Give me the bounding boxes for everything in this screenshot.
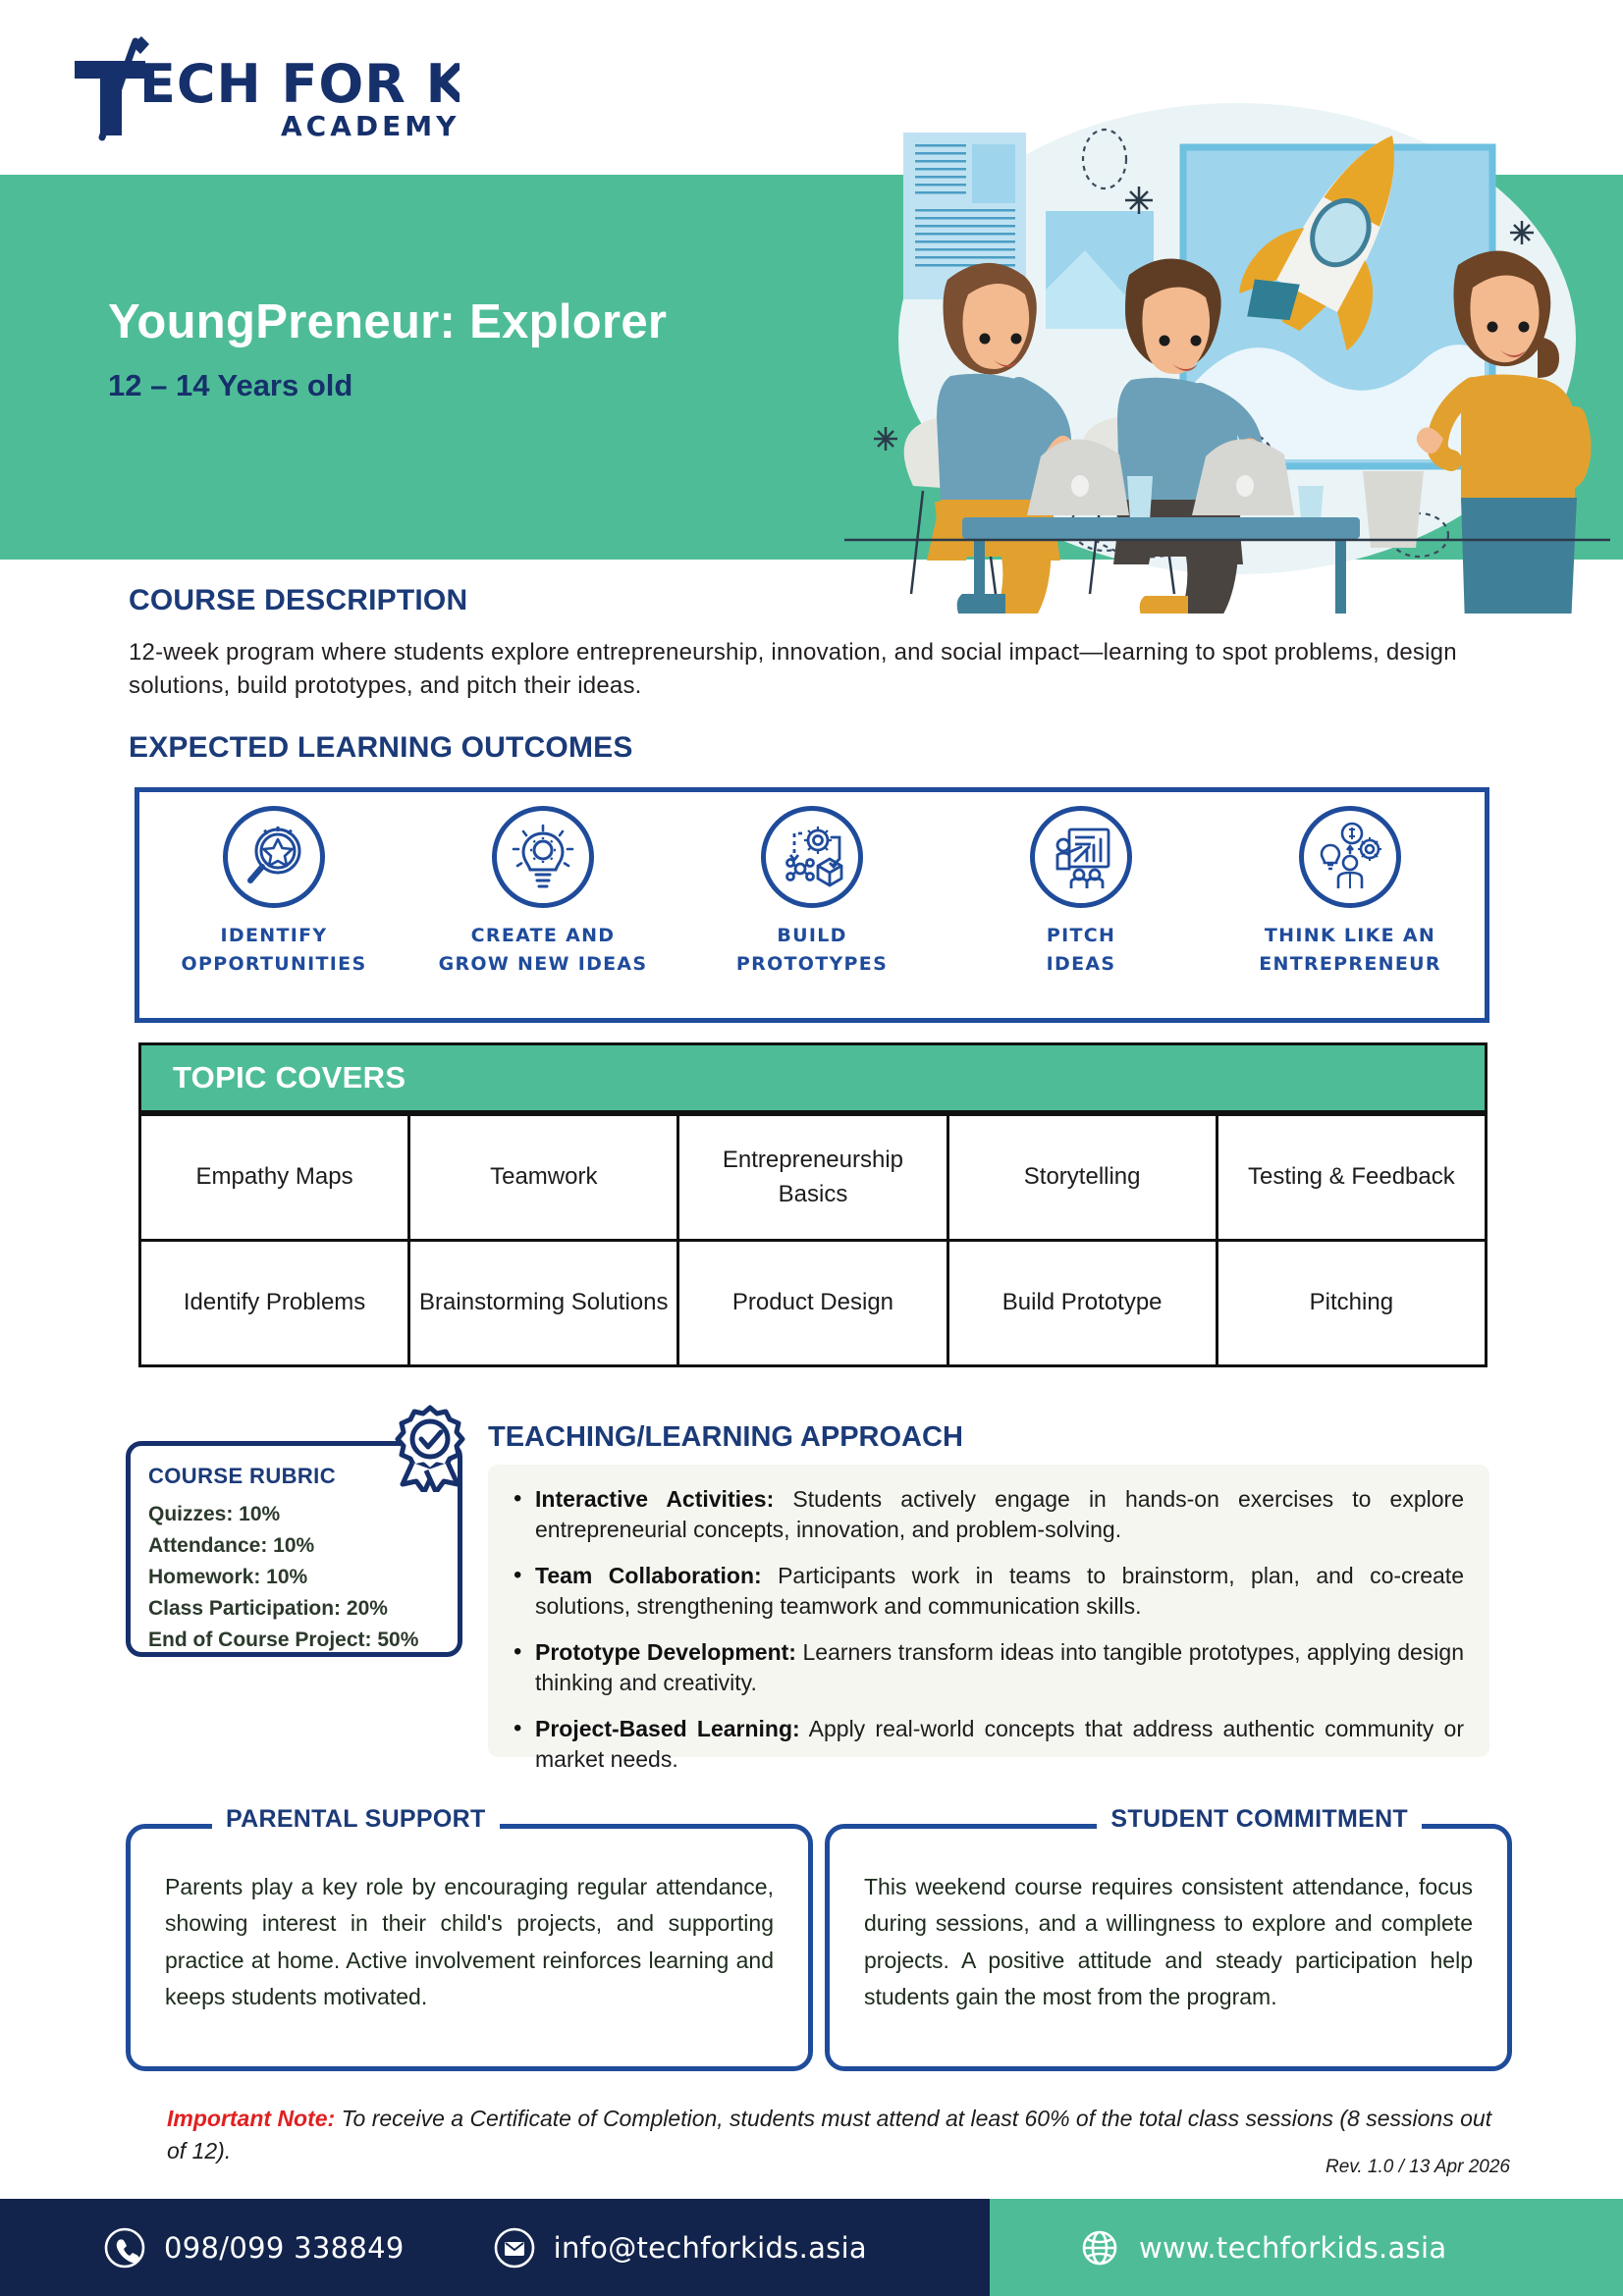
outcome-label: BUILDPROTOTYPES [736,922,888,980]
table-cell: Product Design [678,1241,947,1366]
table-cell: Build Prototype [947,1241,1217,1366]
outcome-build-prototypes: BUILDPROTOTYPES [677,806,947,980]
list-item: End of Course Project: 50% [148,1625,453,1656]
parental-support-panel: PARENTAL SUPPORT Parents play a key role… [126,1824,813,2071]
bullet-icon: • [514,1561,535,1622]
list-item: • Team Collaboration: Participants work … [514,1561,1464,1622]
course-rubric-list: Quizzes: 10% Attendance: 10% Homework: 1… [148,1499,453,1656]
topic-covers-section: TOPIC COVERS Empathy Maps Teamwork Entre… [138,1042,1488,1367]
table-cell: Pitching [1217,1241,1486,1366]
course-description-text: 12-week program where students explore e… [129,636,1484,703]
magnifier-star-icon [223,806,325,908]
globe-icon [1078,2226,1121,2269]
lightbulb-gear-icon [492,806,594,908]
term: Team Collaboration: [535,1563,762,1588]
table-cell: Storytelling [947,1115,1217,1241]
age-range-subtitle: 12 – 14 Years old [108,368,352,403]
important-note-text: To receive a Certificate of Completion, … [167,2106,1491,2163]
list-item: Homework: 10% [148,1562,453,1593]
footer-phone-text: 098/099 338849 [164,2231,405,2265]
table-cell: Brainstorming Solutions [409,1241,678,1366]
footer-website-text: www.techforkids.asia [1139,2231,1446,2265]
outcome-identify-opportunities: IDENTIFYOPPORTUNITIES [139,806,408,980]
student-commitment-panel: STUDENT COMMITMENT This weekend course r… [825,1824,1512,2071]
course-description-heading: COURSE DESCRIPTION [129,584,467,617]
teaching-approach-heading: TEACHING/LEARNING APPROACH [488,1421,963,1454]
table-cell: Empathy Maps [140,1115,409,1241]
list-item: Attendance: 10% [148,1530,453,1562]
envelope-circle-icon [493,2226,536,2269]
svg-text:ACADEMY: ACADEMY [281,110,460,142]
table-cell: Entrepreneurship Basics [678,1115,947,1241]
bullet-icon: • [514,1714,535,1775]
student-commitment-text: This weekend course requires consistent … [864,1869,1473,2015]
footer-website[interactable]: www.techforkids.asia [1078,2226,1446,2269]
outcome-label: CREATE ANDGROW NEW IDEAS [439,922,648,980]
term: Interactive Activities: [535,1486,774,1512]
important-note: Important Note: To receive a Certificate… [167,2103,1492,2168]
topic-covers-title: TOPIC COVERS [173,1060,406,1095]
student-commitment-legend: STUDENT COMMITMENT [1097,1805,1422,1834]
term: Prototype Development: [535,1639,796,1665]
teaching-approach-box: • Interactive Activities: Students activ… [488,1465,1489,1757]
page-title: YoungPreneur: Explorer [108,294,667,349]
topic-covers-header: TOPIC COVERS [138,1042,1488,1113]
footer-email-text: info@techforkids.asia [554,2231,867,2265]
table-row: Empathy Maps Teamwork Entrepreneurship B… [140,1115,1487,1241]
outcomes-heading: EXPECTED LEARNING OUTCOMES [129,731,633,765]
list-item: • Interactive Activities: Students activ… [514,1484,1464,1545]
list-item: • Project-Based Learning: Apply real-wor… [514,1714,1464,1775]
bullet-icon: • [514,1484,535,1545]
tech-for-kids-logo-icon: ECH FOR KIDS ACADEMY [67,35,460,143]
outcome-label: IDENTIFYOPPORTUNITIES [182,922,367,980]
brand-logo: ECH FOR KIDS ACADEMY [67,35,460,143]
course-rubric-title: COURSE RUBRIC [148,1464,336,1489]
gear-cube-network-icon [761,806,863,908]
award-ribbon-check-icon [385,1402,475,1492]
revision-label: Rev. 1.0 / 13 Apr 2026 [1325,2157,1510,2178]
parental-support-legend: PARENTAL SUPPORT [212,1805,500,1834]
outcome-label: THINK LIKE ANENTREPRENEUR [1259,922,1441,980]
footer-contact-block: 098/099 338849 info@techforkids.asia [0,2199,990,2296]
table-row: Identify Problems Brainstorming Solution… [140,1241,1487,1366]
table-cell: Identify Problems [140,1241,409,1366]
entrepreneur-bulb-money-icon [1299,806,1401,908]
list-item: Class Participation: 20% [148,1593,453,1625]
list-item: • Prototype Development: Learners transf… [514,1637,1464,1698]
list-item: Quizzes: 10% [148,1499,453,1530]
footer-email[interactable]: info@techforkids.asia [493,2226,867,2269]
term: Project-Based Learning: [535,1716,800,1741]
topic-covers-table: Empathy Maps Teamwork Entrepreneurship B… [138,1113,1488,1367]
svg-text:ECH FOR KIDS: ECH FOR KIDS [139,53,460,115]
page-footer: 098/099 338849 info@techforkids.asia www… [0,2199,1623,2296]
outcomes-box: IDENTIFYOPPORTUNITIES CREATE ANDGROW NEW… [135,787,1489,1023]
outcome-pitch-ideas: PITCHIDEAS [947,806,1216,980]
parental-support-text: Parents play a key role by encouraging r… [165,1869,774,2015]
bullet-icon: • [514,1637,535,1698]
important-note-label: Important Note: [167,2106,335,2131]
footer-phone[interactable]: 098/099 338849 [103,2226,405,2269]
table-cell: Testing & Feedback [1217,1115,1486,1241]
presentation-chart-icon [1030,806,1132,908]
course-flyer-page: ECH FOR KIDS ACADEMY YoungPreneur: Explo… [0,0,1623,2296]
students-at-table-with-rocket-illustration [844,93,1610,614]
outcome-create-grow-new-ideas: CREATE ANDGROW NEW IDEAS [408,806,677,980]
footer-website-block: www.techforkids.asia [990,2199,1623,2296]
outcome-label: PITCHIDEAS [1047,922,1116,980]
phone-circle-icon [103,2226,146,2269]
table-cell: Teamwork [409,1115,678,1241]
outcome-think-like-entrepreneur: THINK LIKE ANENTREPRENEUR [1216,806,1485,980]
